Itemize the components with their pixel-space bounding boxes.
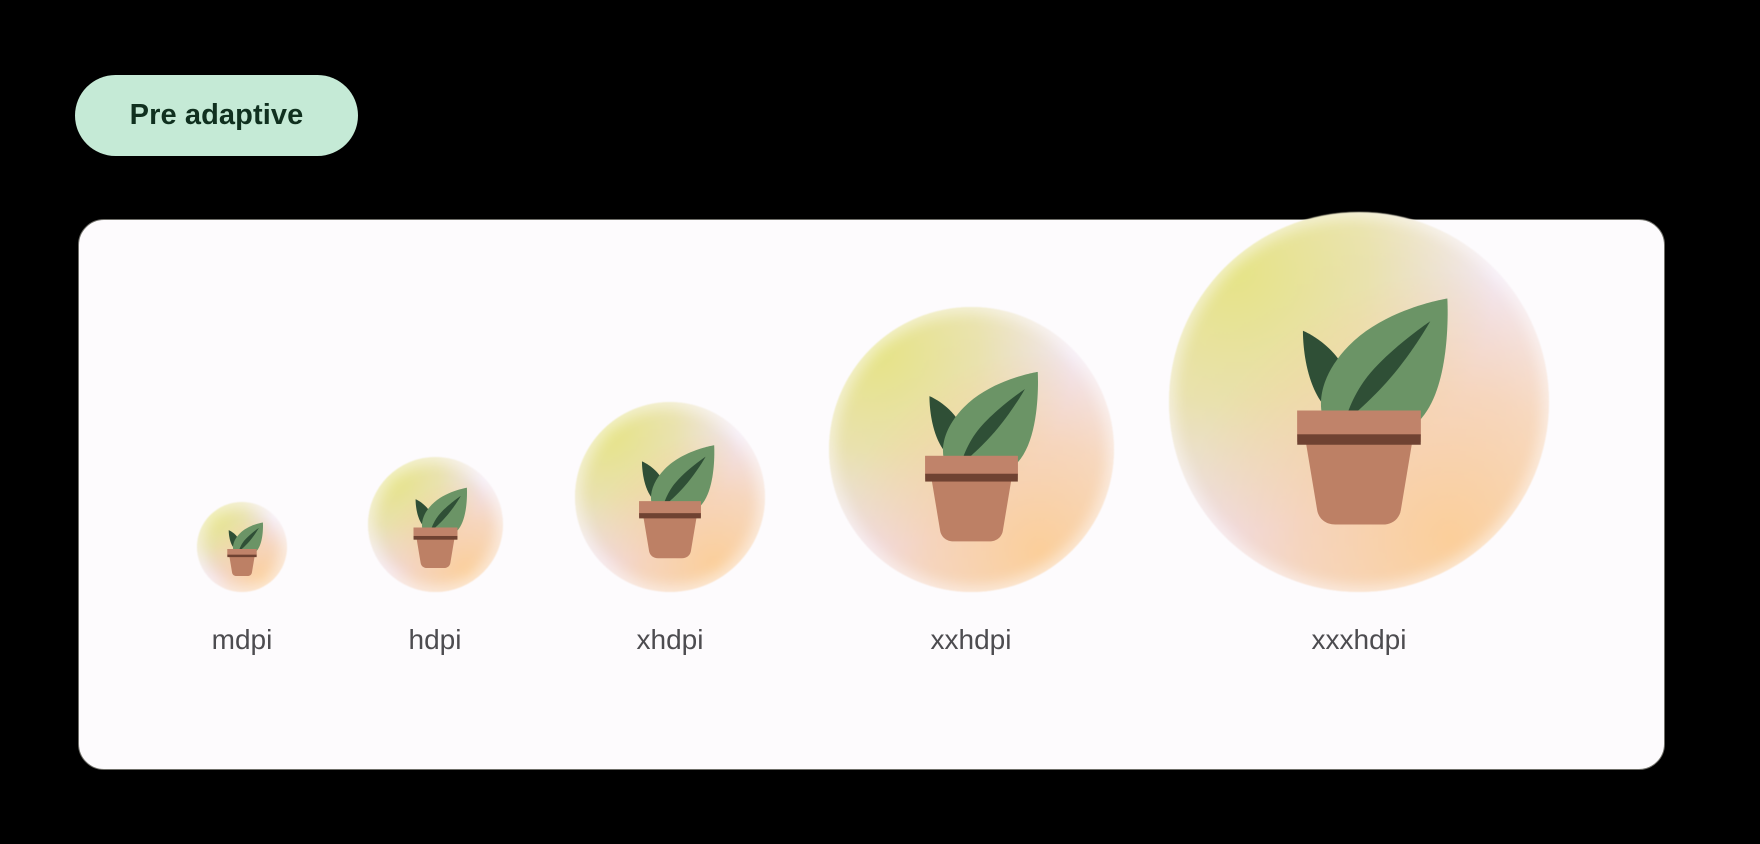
potted-plant-art [368,457,503,592]
icon-density-card: mdpi hdpi xhdpi [78,219,1665,770]
density-cell-xxxhdpi[interactable]: xxxhdpi [1169,212,1549,592]
icon-xxhdpi[interactable] [829,307,1114,592]
pot-band [639,513,701,518]
potted-plant-art [575,402,765,592]
pot-rim-top [639,501,701,514]
pot-body [416,537,454,568]
status-badge-pre-adaptive: Pre adaptive [75,75,358,156]
density-label-xxxhdpi: xxxhdpi [1312,626,1407,654]
density-icon-row: mdpi hdpi xhdpi [79,220,1664,769]
density-label-xxhdpi: xxhdpi [931,626,1012,654]
potted-plant-art [197,502,287,592]
density-cell-mdpi[interactable]: mdpi [197,502,287,592]
pot-rim-top [925,456,1018,475]
icon-hdpi[interactable] [368,457,503,592]
pot-body [229,555,255,576]
density-cell-xxhdpi[interactable]: xxhdpi [829,307,1114,592]
plant-pot [1297,411,1421,525]
pot-band [227,555,256,557]
status-badge-label: Pre adaptive [130,99,304,132]
pot-band [925,474,1018,482]
icon-xhdpi[interactable] [575,402,765,592]
plant-pot [227,549,256,576]
pot-body [930,475,1011,541]
density-label-mdpi: mdpi [212,626,273,654]
potted-plant-art [829,307,1114,592]
potted-plant-art [1169,212,1549,592]
density-cell-hdpi[interactable]: hdpi [368,457,503,592]
pot-band [413,536,457,540]
plant-pot [639,501,701,558]
pot-body [643,514,697,558]
density-cell-xhdpi[interactable]: xhdpi [575,402,765,592]
pot-rim-top [227,549,256,555]
pot-rim-top [1297,411,1421,437]
pot-body [1305,436,1413,524]
density-label-xhdpi: xhdpi [637,626,704,654]
icon-mdpi[interactable] [197,502,287,592]
density-label-hdpi: hdpi [409,626,462,654]
plant-pot [925,456,1018,541]
screenshot-root: Pre adaptive mdpi hdpi [0,0,1760,844]
icon-xxxhdpi[interactable] [1169,212,1549,592]
pot-rim-top [413,528,457,537]
plant-pot [413,528,457,569]
pot-band [1297,434,1421,444]
